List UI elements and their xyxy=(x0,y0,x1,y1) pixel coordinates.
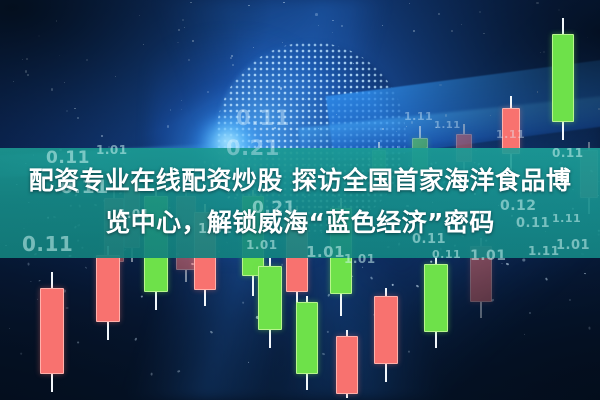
price-number: 1.11 xyxy=(434,120,461,131)
price-number: 1.01 xyxy=(344,252,376,266)
banner-image: 0.110.111.011.010.111.010.110.210.211.01… xyxy=(0,0,600,400)
price-number: 1.11 xyxy=(496,128,525,141)
page-title-line-1: 配资专业在线配资炒股 探访全国首家海洋食品博 xyxy=(29,160,572,202)
page-title: 配资专业在线配资炒股 探访全国首家海洋食品博 览中心，解锁威海“蓝色经济”密码 xyxy=(0,150,600,254)
page-title-line-2: 览中心，解锁威海“蓝色经济”密码 xyxy=(105,202,494,244)
price-number: 0.11 xyxy=(236,106,290,130)
price-number: 1.11 xyxy=(404,110,433,123)
